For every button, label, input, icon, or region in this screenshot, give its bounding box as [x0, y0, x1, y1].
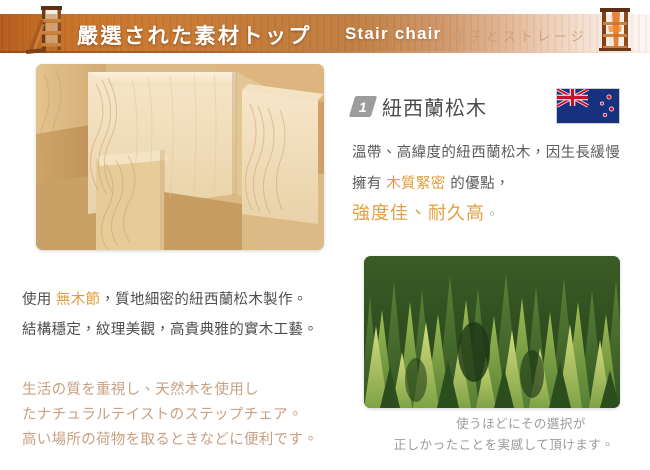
- forest-caption-line-1: 使うほどにその選択が: [378, 413, 630, 434]
- material-strong-claim: 強度佳、耐久高。: [352, 199, 500, 225]
- jp-line-2: たナチュラルテイストのステップチェア。: [22, 403, 352, 428]
- new-zealand-flag: [556, 88, 620, 124]
- number-badge-icon: 1: [349, 96, 377, 117]
- step-ladder-chair-icon: [24, 2, 72, 56]
- forest-caption: 使うほどにその選択が 正しかったことを実感して頂けます。: [378, 413, 630, 455]
- page-header: 嚴選された素材トップ Stair chair 梯子とストレージ: [0, 0, 650, 58]
- craft-post: ，質地細密的紐西蘭松木製作。: [100, 292, 307, 308]
- material-heading: 1 紐西蘭松木: [352, 92, 487, 120]
- forest-caption-line-2: 正しかったことを実感して頂けます。: [378, 434, 630, 455]
- desc-pre: 擁有: [352, 176, 386, 192]
- strong-text: 強度佳、耐久高: [352, 203, 485, 223]
- material-description: 溫帶、高緯度的紐西蘭松木，因生長緩慢 擁有 木質緊密 的優點，: [352, 138, 642, 200]
- craft-description: 使用 無木節，質地細密的紐西蘭松木製作。 結構穩定，紋理美觀，高貴典雅的實木工藝…: [22, 285, 342, 345]
- strong-period: 。: [485, 206, 500, 222]
- badge-number: 1: [359, 99, 367, 113]
- forest-illustration: [364, 256, 620, 408]
- japanese-description: 生活の質を重視し、天然木を使用し たナチュラルテイストのステップチェア。 高い場…: [22, 378, 352, 453]
- product-material-banner: 嚴選された素材トップ Stair chair 梯子とストレージ: [0, 0, 650, 470]
- step-ladder-chair-icon: [592, 2, 640, 56]
- description-line-2: 擁有 木質緊密 的優點，: [352, 169, 642, 200]
- jp-line-1: 生活の質を重視し、天然木を使用し: [22, 378, 352, 403]
- header-band-bottom-edge: [0, 51, 650, 53]
- description-line-1: 溫帶、高緯度的紐西蘭松木，因生長緩慢: [352, 138, 642, 169]
- craft-line-2: 結構穩定，紋理美觀，高貴典雅的實木工藝。: [22, 315, 342, 345]
- header-subtitle-jp: 梯子とストレージ: [452, 26, 588, 45]
- pine-timber-photo: [36, 64, 324, 250]
- header-subtitle-en: Stair chair: [345, 24, 441, 44]
- craft-highlight: 無木節: [56, 292, 100, 308]
- pine-forest-photo: [364, 256, 620, 408]
- page-title: 嚴選された素材トップ: [77, 20, 312, 50]
- craft-line-1: 使用 無木節，質地細密的紐西蘭松木製作。: [22, 285, 342, 315]
- desc-highlight: 木質緊密: [386, 176, 446, 192]
- timber-illustration: [36, 64, 324, 250]
- desc-post: 的優點，: [446, 176, 510, 192]
- material-title: 紐西蘭松木: [382, 92, 487, 121]
- jp-line-3: 高い場所の荷物を取るときなどに便利です。: [22, 428, 352, 453]
- craft-pre: 使用: [22, 292, 56, 308]
